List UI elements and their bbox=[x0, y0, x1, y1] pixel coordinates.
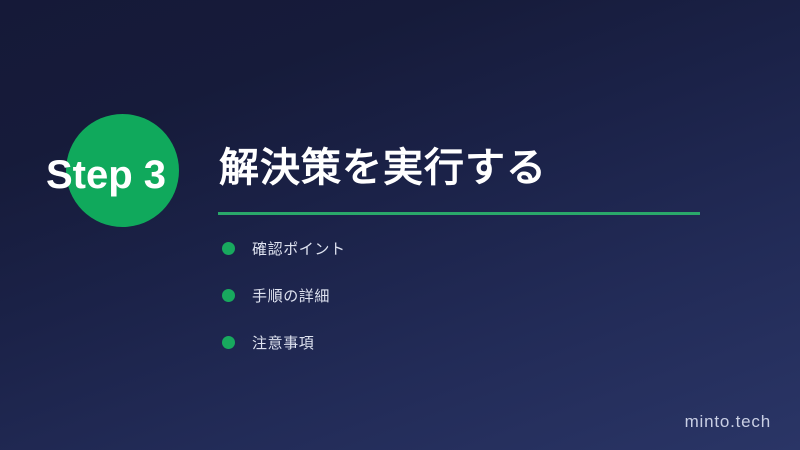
bullet-list: 確認ポイント 手順の詳細 注意事項 bbox=[222, 240, 346, 381]
page-title: 解決策を実行する bbox=[219, 142, 547, 194]
bullet-dot-icon bbox=[222, 242, 235, 255]
bullet-dot-icon bbox=[222, 289, 235, 302]
list-item-label: 手順の詳細 bbox=[252, 285, 330, 306]
list-item-label: 確認ポイント bbox=[252, 238, 346, 259]
list-item-label: 注意事項 bbox=[252, 332, 314, 353]
title-divider bbox=[218, 212, 700, 215]
list-item: 手順の詳細 bbox=[222, 287, 346, 303]
list-item: 注意事項 bbox=[222, 334, 346, 350]
step-number-label: Step 3 bbox=[46, 150, 216, 200]
slide-canvas: Step 3 解決策を実行する 確認ポイント 手順の詳細 注意事項 minto.… bbox=[0, 0, 800, 450]
bullet-dot-icon bbox=[222, 336, 235, 349]
footer-brand: minto.tech bbox=[685, 412, 771, 432]
list-item: 確認ポイント bbox=[222, 240, 346, 256]
